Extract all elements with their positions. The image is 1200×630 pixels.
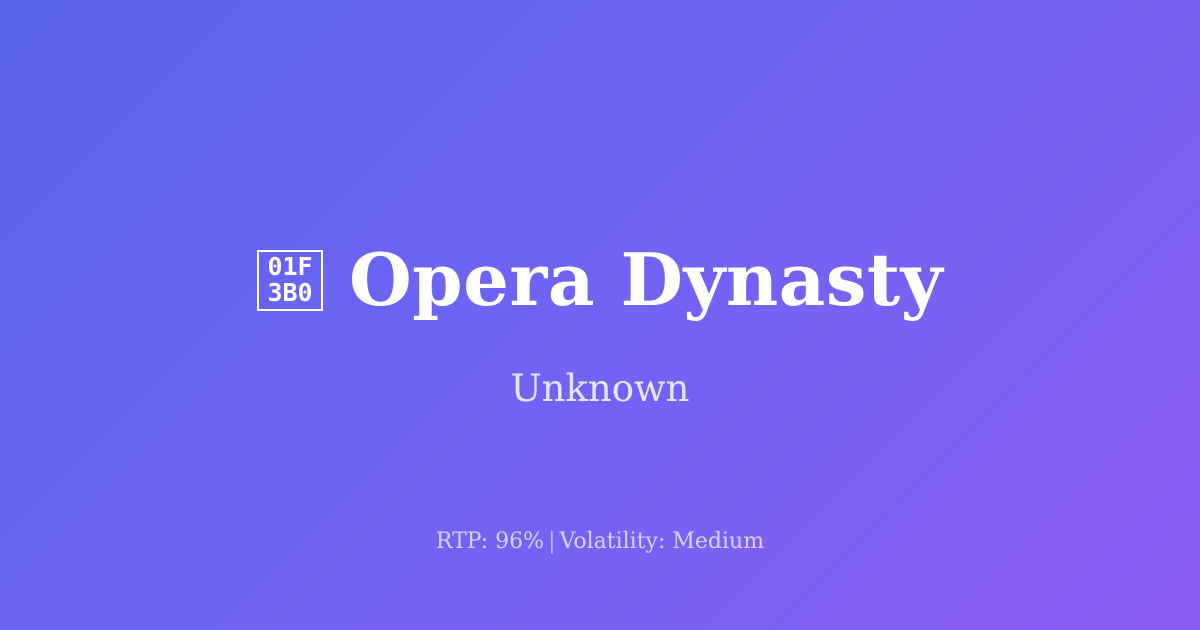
game-meta: RTP: 96%|Volatility: Medium — [0, 528, 1200, 557]
meta-separator: | — [544, 529, 559, 554]
slot-machine-icon-codepoint-top: 01F — [267, 254, 312, 281]
game-promo-card: 01F 3B0 Opera Dynasty Unknown RTP: 96%|V… — [0, 0, 1200, 630]
volatility-value: Volatility: Medium — [560, 529, 765, 554]
provider-name: Unknown — [0, 366, 1200, 412]
title-row: 01F 3B0 Opera Dynasty — [0, 232, 1200, 328]
slot-machine-icon: 01F 3B0 — [257, 250, 323, 311]
slot-machine-icon-codepoint-bottom: 3B0 — [267, 280, 312, 307]
game-title: Opera Dynasty — [349, 240, 943, 319]
rtp-value: RTP: 96% — [436, 529, 544, 554]
